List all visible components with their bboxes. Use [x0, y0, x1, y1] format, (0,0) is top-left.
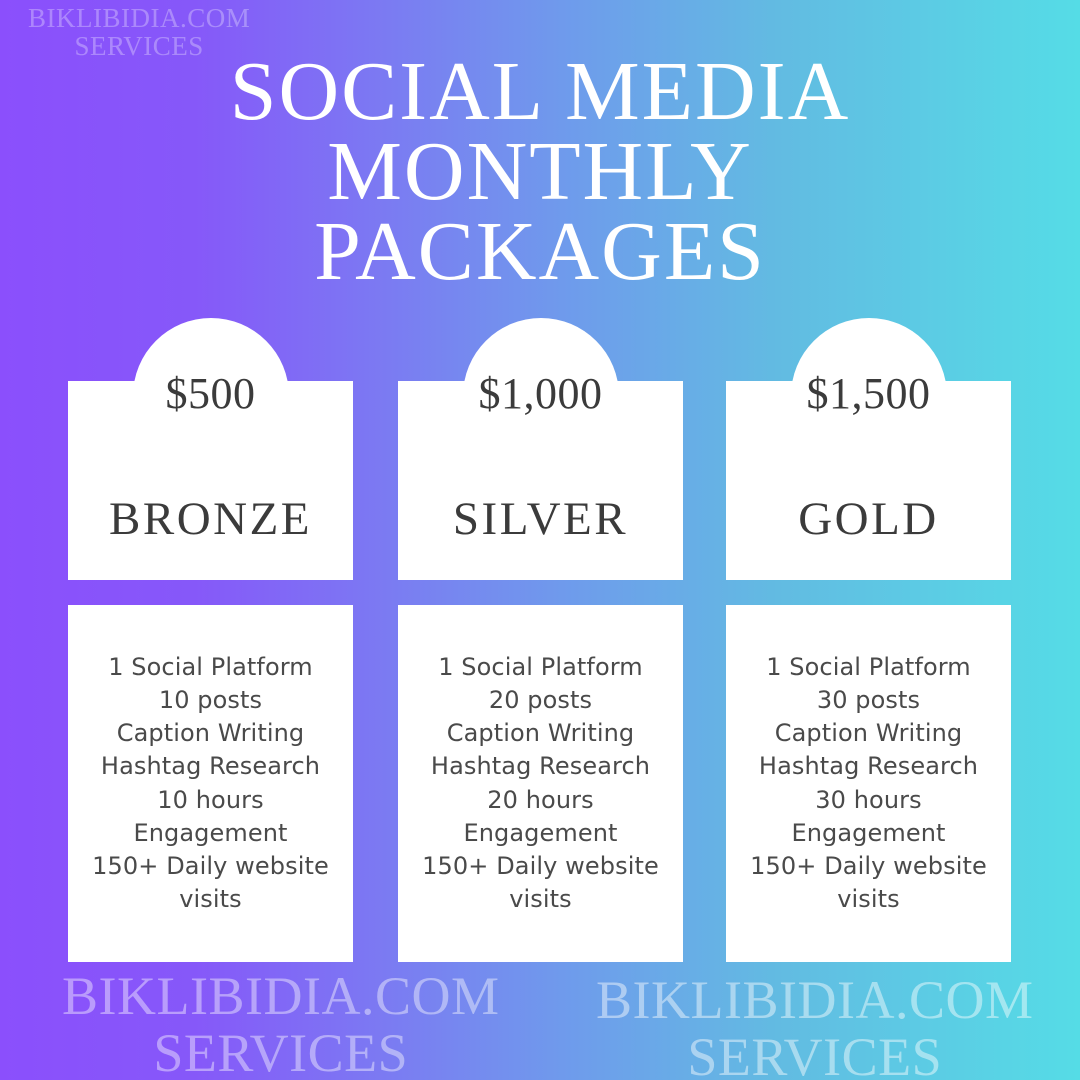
list-item: 30 posts: [741, 684, 996, 717]
watermark-bottom-left: BIKLIBIDIA.COM SERVICES: [62, 968, 499, 1080]
feature-panel-bronze: 1 Social Platform 10 posts Caption Writi…: [68, 605, 353, 962]
list-item: 10 posts: [83, 684, 338, 717]
list-item: 150+ Daily website visits: [413, 850, 668, 916]
title-line-3: PACKAGES: [0, 212, 1080, 292]
list-item: 1 Social Platform: [413, 651, 668, 684]
feature-list-bronze: 1 Social Platform 10 posts Caption Writi…: [83, 651, 338, 916]
tier-name-bronze: BRONZE: [68, 492, 353, 546]
list-item: Hashtag Research: [83, 750, 338, 783]
feature-panel-silver: 1 Social Platform 20 posts Caption Writi…: [398, 605, 683, 962]
list-item: 150+ Daily website visits: [83, 850, 338, 916]
pricing-card-bronze[interactable]: $500 BRONZE 1 Social Platform 10 posts C…: [68, 318, 353, 968]
pricing-infographic: BIKLIBIDIA.COM SERVICES SOCIAL MEDIA MON…: [0, 0, 1080, 1080]
list-item: Caption Writing: [83, 717, 338, 750]
list-item: Caption Writing: [741, 717, 996, 750]
card-header-silver: $1,000 SILVER: [398, 318, 683, 580]
watermark-bottom-right: BIKLIBIDIA.COM SERVICES: [596, 972, 1033, 1080]
pricing-card-gold[interactable]: $1,500 GOLD 1 Social Platform 30 posts C…: [726, 318, 1011, 968]
list-item: 150+ Daily website visits: [741, 850, 996, 916]
card-header-bronze: $500 BRONZE: [68, 318, 353, 580]
list-item: Engagement: [413, 817, 668, 850]
feature-panel-gold: 1 Social Platform 30 posts Caption Writi…: [726, 605, 1011, 962]
list-item: 10 hours: [83, 784, 338, 817]
feature-list-silver: 1 Social Platform 20 posts Caption Writi…: [413, 651, 668, 916]
price-silver: $1,000: [398, 368, 683, 419]
list-item: 1 Social Platform: [83, 651, 338, 684]
tier-name-silver: SILVER: [398, 492, 683, 546]
tier-name-gold: GOLD: [726, 492, 1011, 546]
list-item: Hashtag Research: [413, 750, 668, 783]
list-item: 20 posts: [413, 684, 668, 717]
pricing-card-silver[interactable]: $1,000 SILVER 1 Social Platform 20 posts…: [398, 318, 683, 968]
title-line-1: SOCIAL MEDIA: [0, 52, 1080, 132]
card-header-gold: $1,500 GOLD: [726, 318, 1011, 580]
price-bronze: $500: [68, 368, 353, 419]
list-item: 20 hours: [413, 784, 668, 817]
list-item: Engagement: [83, 817, 338, 850]
list-item: Engagement: [741, 817, 996, 850]
pricing-card-list: $500 BRONZE 1 Social Platform 10 posts C…: [0, 318, 1080, 968]
page-title: SOCIAL MEDIA MONTHLY PACKAGES: [0, 52, 1080, 291]
list-item: 30 hours: [741, 784, 996, 817]
list-item: 1 Social Platform: [741, 651, 996, 684]
list-item: Hashtag Research: [741, 750, 996, 783]
price-gold: $1,500: [726, 368, 1011, 419]
title-line-2: MONTHLY: [0, 132, 1080, 212]
list-item: Caption Writing: [413, 717, 668, 750]
feature-list-gold: 1 Social Platform 30 posts Caption Writi…: [741, 651, 996, 916]
